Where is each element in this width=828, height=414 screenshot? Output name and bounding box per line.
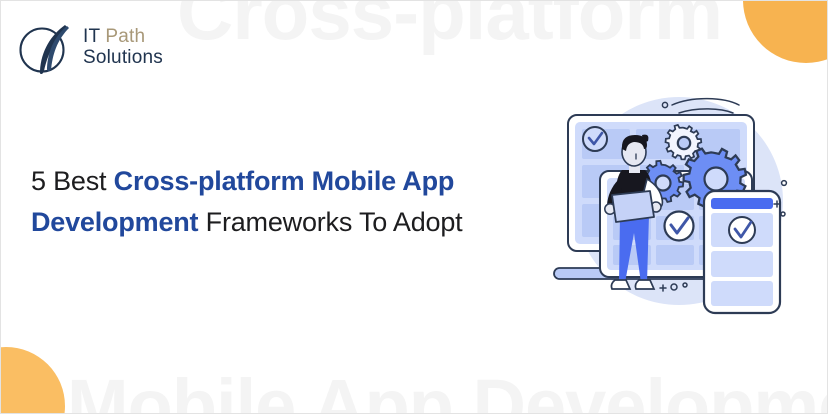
smartphone-screen (704, 191, 780, 313)
checkmark-badge-phone (729, 217, 755, 243)
logo-word-path: Path (105, 26, 145, 47)
orange-circle-top-right (743, 0, 828, 63)
logo-word-it: IT (83, 26, 105, 47)
checkmark-badge-center (665, 212, 694, 241)
brand-logo-wordmark: IT Path Solutions (83, 27, 163, 68)
headline-plain-suffix: Frameworks To Adopt (198, 207, 462, 237)
page-title: 5 Best Cross-platform Mobile App Develop… (31, 161, 501, 242)
watermark-bottom-text: Mobile App Development (67, 369, 828, 414)
brand-logo[interactable]: IT Path Solutions (18, 19, 163, 77)
watermark-top-text: Cross-platform (177, 0, 722, 51)
it-path-solutions-monogram-icon (18, 19, 74, 77)
cross-platform-development-illustration (546, 83, 804, 319)
headline-plain-prefix: 5 Best (31, 166, 114, 196)
checkmark-badge-laptop (583, 127, 607, 151)
logo-word-solutions: Solutions (83, 48, 163, 69)
banner-canvas: Cross-platform Mobile App Development IT… (0, 0, 828, 414)
orange-circle-bottom-left (0, 347, 65, 414)
